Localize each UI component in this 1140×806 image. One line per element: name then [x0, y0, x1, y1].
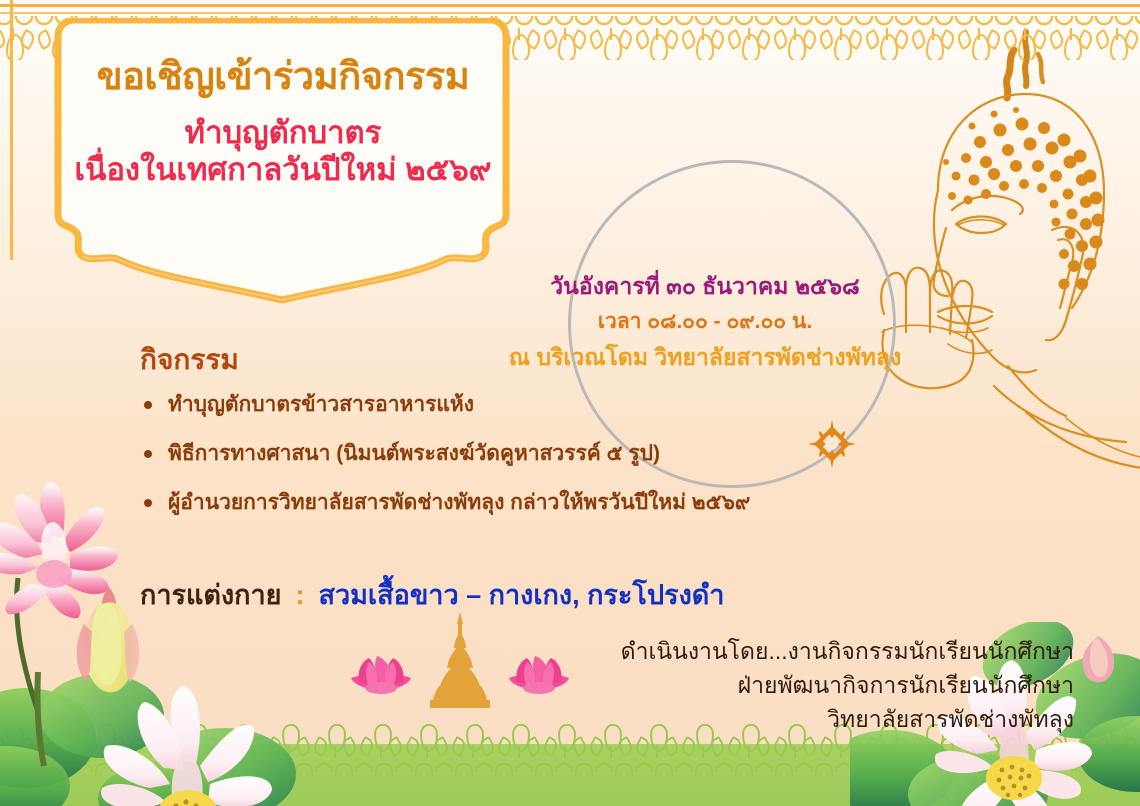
organizer-line: ฝ่ายพัฒนากิจการนักเรียนนักศึกษา [621, 668, 1074, 702]
petal-leaf-right [846, 29, 865, 50]
petal-leaf-left [725, 29, 744, 50]
bottom-green-band [0, 744, 1140, 806]
bullet-icon [144, 450, 152, 458]
organizer-line: ดำเนินงานโดย...งานกิจกรรมนักเรียนนักศึกษ… [621, 634, 1074, 668]
organizer-block: ดำเนินงานโดย...งานกิจกรรมนักเรียนนักศึกษ… [621, 634, 1074, 736]
pink-lotus-right-icon [509, 656, 569, 694]
petal-leaf-right [708, 29, 727, 50]
petal-drop [6, 34, 24, 60]
petal-drop [742, 34, 760, 60]
petal-leaf-left [817, 29, 836, 50]
activities-heading: กิจกรรม [140, 338, 239, 382]
petal-leaf-left [541, 29, 560, 50]
dress-code-row: การแต่งกาย : สวมเสื้อขาว – กางเกง, กระโป… [140, 573, 724, 616]
border-petal-motif [772, 28, 818, 60]
petal-leaf-right [800, 29, 819, 50]
petal-stem [610, 28, 612, 40]
thai-diamond-ornament-icon [806, 418, 858, 470]
petal-leaf-right [754, 29, 773, 50]
petal-leaf-left [679, 29, 698, 50]
activity-item-label: พิธีการทางศาสนา (นิมนต์พระสงฆ์วัดคูหาสวร… [168, 442, 660, 465]
activity-item-label: ทำบุญตักบาตรข้าวสารอาหารแห้ง [168, 393, 474, 416]
activity-item: พิธีการทางศาสนา (นิมนต์พระสงฆ์วัดคูหาสวร… [140, 441, 750, 466]
card-title-group: ขอเชิญเข้าร่วมกิจกรรม ทำบุญตักบาตร เนื่อ… [44, 58, 522, 187]
card-title-line-1: ขอเชิญเข้าร่วมกิจกรรม [44, 58, 522, 98]
petal-leaf-right [570, 29, 589, 50]
petal-drop [696, 34, 714, 60]
card-title-line-3: เนื่องในเทศกาลวันปีใหม่ ๒๕๖๙ [44, 153, 522, 188]
border-petal-motif [588, 28, 634, 60]
event-place: ณ บริเวณโดม วิทยาลัยสารพัดช่างพัทลุง [455, 343, 955, 372]
border-rule-outer [0, 4, 1140, 7]
border-petal-motif [542, 28, 588, 60]
petal-drop [788, 34, 806, 60]
petal-stem [702, 28, 704, 40]
activity-item: ทำบุญตักบาตรข้าวสารอาหารแห้ง [140, 392, 750, 417]
bullet-icon [144, 499, 152, 507]
bullet-icon [144, 401, 152, 409]
activity-item: ผู้อำนวยการวิทยาลัยสารพัดช่างพัทลุง กล่า… [140, 490, 750, 515]
left-vertical-rule [10, 0, 13, 260]
border-petal-motif [818, 28, 864, 60]
petal-stem [794, 28, 796, 40]
border-petal-motif [726, 28, 772, 60]
petal-stem [748, 28, 750, 40]
event-time: เวลา ๐๘.๐๐ - ๐๙.๐๐ น. [455, 309, 955, 335]
petal-leaf-left [771, 29, 790, 50]
activities-list: ทำบุญตักบาตรข้าวสารอาหารแห้งพิธีการทางศา… [140, 392, 750, 540]
card-title-line-2: ทำบุญตักบาตร [44, 116, 522, 151]
dress-code-separator: : [281, 580, 318, 611]
pagoda-lotus-icon-row [345, 612, 575, 708]
golden-pagoda-icon [430, 612, 490, 708]
petal-leaf-left [633, 29, 652, 50]
dress-code-value: สวมเสื้อขาว – กางเกง, กระโปรงดำ [318, 573, 724, 616]
petal-drop [834, 34, 852, 60]
petal-stem [564, 28, 566, 40]
petal-leaf-right [662, 29, 681, 50]
pink-lotus-left-icon [351, 656, 411, 694]
organizer-line: วิทยาลัยสารพัดช่างพัทลุง [621, 702, 1074, 736]
petal-leaf-right [616, 29, 635, 50]
poster-canvas: ขอเชิญเข้าร่วมกิจกรรม ทำบุญตักบาตร เนื่อ… [0, 0, 1140, 806]
petal-stem [840, 28, 842, 40]
petal-leaf-left [587, 29, 606, 50]
petal-stem [656, 28, 658, 40]
petal-drop [558, 34, 576, 60]
dress-code-label: การแต่งกาย [140, 573, 281, 616]
activity-item-label: ผู้อำนวยการวิทยาลัยสารพัดช่างพัทลุง กล่า… [168, 491, 750, 514]
border-petal-motif [634, 28, 680, 60]
petal-drop [650, 34, 668, 60]
border-petal-motif [0, 28, 36, 60]
petal-leaf-left [0, 29, 8, 50]
petal-drop [604, 34, 622, 60]
border-petal-motif [680, 28, 726, 60]
